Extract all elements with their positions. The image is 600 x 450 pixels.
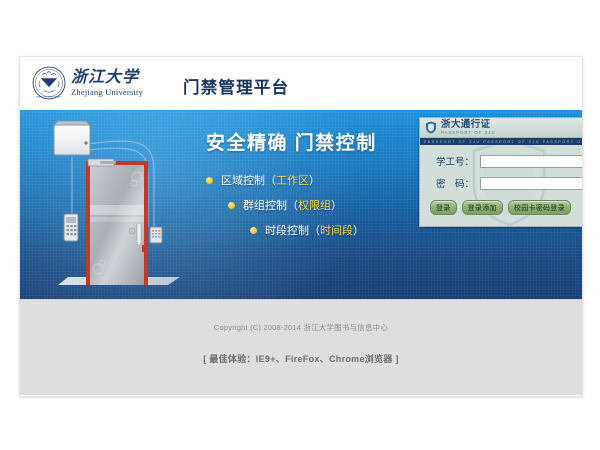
feature-text: 时段控制（ [265, 222, 320, 238]
bullet-dot-icon [228, 202, 235, 209]
passport-names: 浙大通行证 PASSPORT OF ZJU [441, 120, 496, 135]
feature-accent: 时间段 [320, 222, 353, 238]
feature-tail: ） [331, 197, 342, 213]
brand-block[interactable]: ZHEJIANG UNIVERSITY 浙江大学 Zhejiang Univer… [32, 66, 143, 100]
page-title: 门禁管理平台 [183, 74, 289, 98]
bullet-dot-icon [206, 177, 213, 184]
copyright-text: Copyright (C) 2008-2014 浙江大学图书与信息中心 [20, 300, 582, 333]
feature-item: 时段控制（ 时间段 ） [250, 222, 428, 238]
hero-banner: 安全精确 门禁控制 区域控制（ 工作区 ） 群组控制（ 权限组 ） 时段控制（ [20, 110, 582, 299]
feature-accent: 工作区 [276, 172, 309, 188]
feature-tail: ） [309, 172, 320, 188]
banner-copy: 安全精确 门禁控制 区域控制（ 工作区 ） 群组控制（ 权限组 ） 时段控制（ [206, 128, 428, 247]
login-form: 学工号： 密 码： [420, 145, 582, 190]
feature-text: 群组控制（ [243, 197, 298, 213]
feature-accent: 权限组 [298, 197, 331, 213]
feature-list: 区域控制（ 工作区 ） 群组控制（ 权限组 ） 时段控制（ 时间段 ） [206, 172, 428, 238]
login-panel: 浙大通行证 PASSPORT OF ZJU PASSPORT OF ZJU PA… [419, 117, 582, 227]
password-label: 密 码： [428, 176, 474, 190]
brand-name-cn: 浙江大学 [71, 70, 143, 86]
password-input[interactable] [480, 177, 582, 190]
login-titlebar: 浙大通行证 PASSPORT OF ZJU [420, 118, 582, 138]
brand-wordmark: 浙江大学 Zhejiang University [71, 70, 143, 97]
feature-tail: ） [353, 222, 364, 238]
access-control-door-illustration [42, 119, 184, 295]
page-shell: ZHEJIANG UNIVERSITY 浙江大学 Zhejiang Univer… [19, 56, 583, 397]
login-add-button[interactable]: 登录添加 [462, 200, 503, 215]
userid-label: 学工号： [428, 154, 474, 168]
feature-item: 群组控制（ 权限组 ） [228, 197, 428, 213]
zju-crest-icon: ZHEJIANG UNIVERSITY [32, 66, 66, 100]
site-footer: Copyright (C) 2008-2014 浙江大学图书与信息中心 [ 最佳… [20, 299, 582, 395]
shield-icon [425, 121, 437, 134]
bullet-dot-icon [250, 227, 257, 234]
login-button[interactable]: 登录 [430, 200, 457, 215]
userid-input[interactable] [480, 155, 582, 168]
campus-card-login-button[interactable]: 校园卡密码登录 [508, 200, 571, 215]
userid-field-row: 学工号： [428, 154, 582, 168]
feature-text: 区域控制（ [221, 172, 276, 188]
browser-support-text: [ 最佳体验：IE9+、FireFox、Chrome浏览器 ] [20, 333, 582, 365]
feature-item: 区域控制（ 工作区 ） [206, 172, 428, 188]
login-buttons: 登录 登录添加 校园卡密码登录 [420, 198, 582, 215]
banner-headline: 安全精确 门禁控制 [206, 128, 428, 155]
password-field-row: 密 码： [428, 176, 582, 190]
login-ribbon-text: PASSPORT OF ZJU PASSPORT OF ZJU PASSPORT… [420, 140, 582, 144]
login-panel-subtitle: PASSPORT OF ZJU [441, 131, 496, 135]
login-ribbon: PASSPORT OF ZJU PASSPORT OF ZJU PASSPORT… [420, 138, 582, 145]
svg-text:ZHEJIANG UNIVERSITY: ZHEJIANG UNIVERSITY [36, 95, 63, 98]
site-header: ZHEJIANG UNIVERSITY 浙江大学 Zhejiang Univer… [20, 57, 582, 110]
login-panel-title: 浙大通行证 [441, 120, 496, 130]
brand-name-en: Zhejiang University [71, 88, 143, 97]
